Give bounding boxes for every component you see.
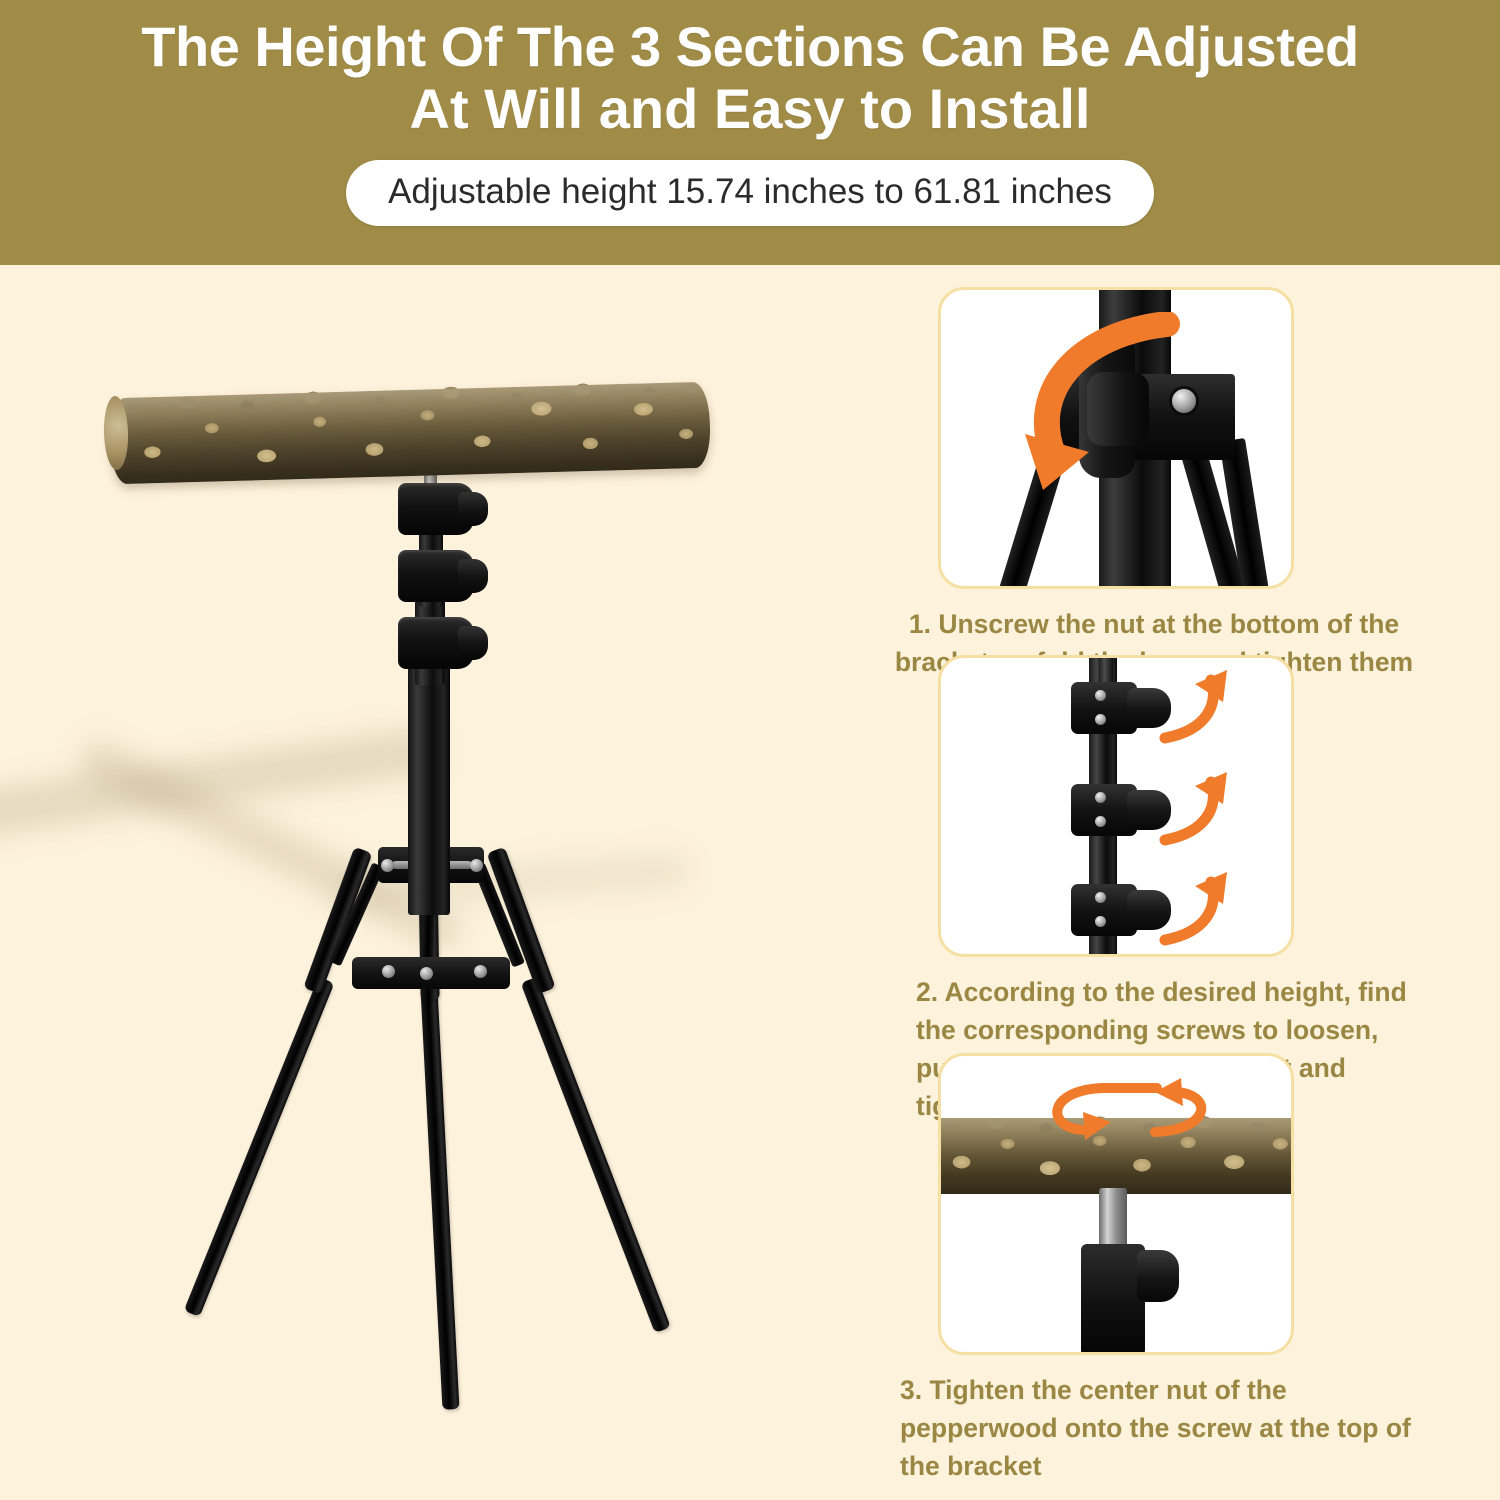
step-2-photo-card xyxy=(938,655,1294,957)
extension-clamp-1 xyxy=(1071,682,1137,734)
bracket-mount-knob xyxy=(1137,1250,1179,1302)
step-1-photo-card xyxy=(938,287,1294,589)
mast-section-4 xyxy=(408,665,450,915)
body-area: 1. Unscrew the nut at the bottom of the … xyxy=(0,265,1500,1500)
clamp-3-screw-lower xyxy=(1095,916,1106,927)
collar-bolt-2 xyxy=(420,967,433,980)
hero-stage xyxy=(0,265,880,1500)
bracket-top-mount xyxy=(1081,1244,1145,1355)
extension-clamp-3 xyxy=(1071,884,1137,936)
collar-bolt-3 xyxy=(474,965,487,978)
hub-bolt-2 xyxy=(470,859,483,872)
adjustable-height-badge: Adjustable height 15.74 inches to 61.81 … xyxy=(346,160,1154,226)
step-3-caption: 3. Tighten the center nut of the pepperw… xyxy=(900,1371,1440,1485)
wooden-perch-branch xyxy=(109,382,711,485)
mast-adjustment-knob-1 xyxy=(398,483,474,535)
hero-product-image xyxy=(0,265,880,1500)
curved-down-arrow-icon xyxy=(1017,312,1217,512)
page-title: The Height Of The 3 Sections Can Be Adju… xyxy=(80,16,1420,140)
title-line-1: The Height Of The 3 Sections Can Be Adju… xyxy=(80,16,1420,78)
curved-up-arrow-icon-2 xyxy=(1149,768,1239,846)
clamp-2-screw-lower xyxy=(1095,816,1106,827)
clamp-1-screw-lower xyxy=(1095,714,1106,725)
tripod-leg-lower-middle xyxy=(420,980,459,1410)
instruction-steps-column: 1. Unscrew the nut at the bottom of the … xyxy=(880,265,1500,1500)
clamp-1-screw-upper xyxy=(1095,690,1106,701)
tripod-leg-lower-left xyxy=(184,977,335,1317)
curved-up-arrow-icon-3 xyxy=(1149,868,1239,946)
tripod-leg-lower-right xyxy=(521,977,671,1333)
hub-bolt-1 xyxy=(381,859,394,872)
instruction-step-1: 1. Unscrew the nut at the bottom of the … xyxy=(880,287,1500,681)
step-3-photo-card xyxy=(938,1053,1294,1355)
clamp-2-screw-upper xyxy=(1095,792,1106,803)
mast-adjustment-knob-3 xyxy=(398,617,474,669)
instruction-step-3: 3. Tighten the center nut of the pepperw… xyxy=(880,1053,1500,1485)
curved-up-arrow-icon-1 xyxy=(1149,666,1239,744)
circular-rotation-arrow-icon xyxy=(1025,1078,1225,1152)
header-banner: The Height Of The 3 Sections Can Be Adju… xyxy=(0,0,1500,265)
clamp-3-screw-upper xyxy=(1095,892,1106,903)
extension-clamp-2 xyxy=(1071,784,1137,836)
mast-adjustment-knob-2 xyxy=(398,550,474,602)
infographic-page: The Height Of The 3 Sections Can Be Adju… xyxy=(0,0,1500,1500)
collar-bolt-1 xyxy=(382,965,395,978)
title-line-2: At Will and Easy to Install xyxy=(80,78,1420,140)
center-nut-screw xyxy=(1099,1188,1127,1250)
